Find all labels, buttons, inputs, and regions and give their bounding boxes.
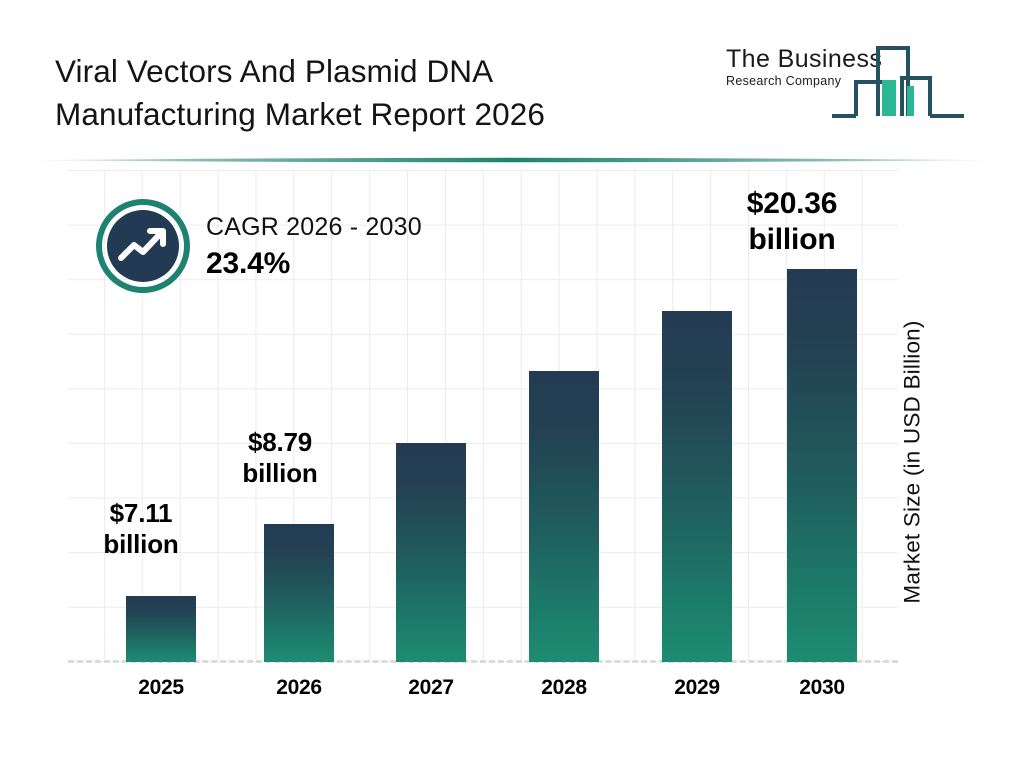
x-tick-2027: 2027	[381, 676, 481, 700]
chart-page: Viral Vectors And Plasmid DNA Manufactur…	[0, 0, 1024, 768]
y-axis-title-text: Market Size (in USD Billion)	[900, 320, 926, 603]
bar-2026[interactable]	[264, 524, 334, 662]
x-axis: 2025 2026 2027 2028 2029 2030	[68, 676, 898, 710]
header: Viral Vectors And Plasmid DNA Manufactur…	[0, 0, 1024, 152]
bar-2028[interactable]	[529, 371, 599, 662]
header-divider	[34, 152, 990, 162]
x-tick-2025: 2025	[111, 676, 211, 700]
bar-2027[interactable]	[396, 443, 466, 662]
trending-up-icon	[96, 199, 190, 293]
cagr-period-label: CAGR 2026 - 2030	[206, 211, 422, 243]
value-label-2026: $8.79 billion	[185, 427, 375, 489]
cagr-value: 23.4%	[206, 245, 422, 283]
value-label-2025: $7.11 billion	[46, 498, 236, 560]
bar-chart-skyline-icon	[830, 36, 970, 129]
cagr-texts: CAGR 2026 - 2030 23.4%	[206, 211, 422, 283]
y-axis-title: Market Size (in USD Billion)	[893, 262, 933, 662]
page-title: Viral Vectors And Plasmid DNA Manufactur…	[55, 50, 695, 136]
bar-2029[interactable]	[662, 311, 732, 662]
x-tick-2030: 2030	[772, 676, 872, 700]
bar-2025[interactable]	[126, 596, 196, 662]
company-logo: The Business Research Company	[726, 36, 976, 124]
x-tick-2026: 2026	[249, 676, 349, 700]
value-label-2030: $20.36 billion	[692, 186, 892, 258]
x-tick-2028: 2028	[514, 676, 614, 700]
cagr-badge: CAGR 2026 - 2030 23.4%	[96, 199, 496, 311]
x-tick-2029: 2029	[647, 676, 747, 700]
bar-2030[interactable]	[787, 269, 857, 662]
